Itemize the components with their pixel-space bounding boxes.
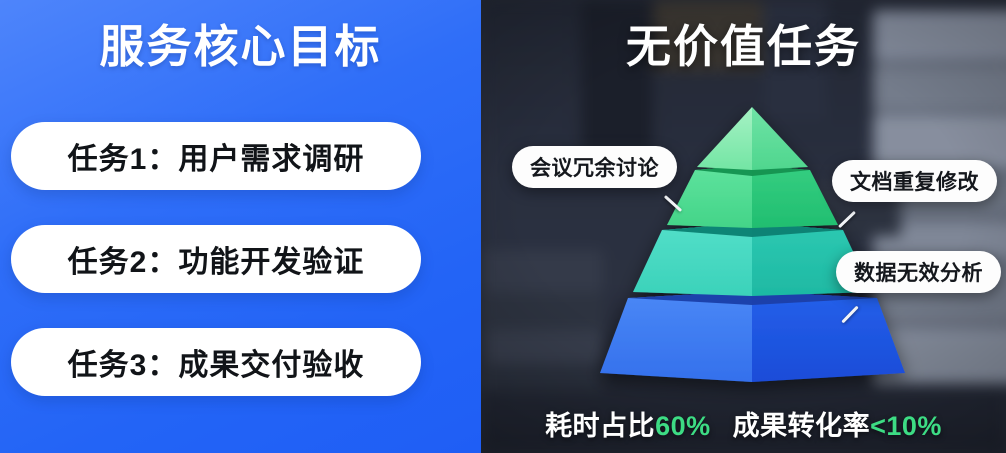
left-panel-title: 服务核心目标 [0, 18, 481, 76]
pyramid-chart [481, 0, 1006, 453]
callout-ineffective-data-analysis[interactable]: 数据无效分析 [836, 251, 1001, 293]
callout-1-label: 会议冗余讨论 [530, 152, 659, 182]
pyramid-tier-middle [633, 223, 872, 296]
task-pill-1-label: 任务1：用户需求调研 [68, 134, 365, 178]
task-pill-2-label: 任务2：功能开发验证 [68, 237, 365, 281]
left-panel-service-goals: 服务核心目标 任务1：用户需求调研 任务2：功能开发验证 任务3：成果交付验收 [0, 0, 481, 453]
task-pill-2[interactable]: 任务2：功能开发验证 [11, 225, 421, 293]
right-panel-worthless-tasks: 无价值任务 [481, 0, 1006, 453]
caption-metric1-label: 耗时占比 [545, 411, 655, 441]
callout-document-repeated-edits[interactable]: 文档重复修改 [832, 160, 997, 202]
pyramid-tier-base [600, 291, 905, 382]
caption-metric1-value: 60% [655, 411, 711, 441]
task-pill-3[interactable]: 任务3：成果交付验收 [11, 328, 421, 396]
callout-2-label: 文档重复修改 [850, 166, 979, 196]
caption-metric2-label: 成果转化率 [733, 411, 871, 441]
infographic-canvas: 服务核心目标 任务1：用户需求调研 任务2：功能开发验证 任务3：成果交付验收 [0, 0, 1006, 453]
pyramid-tier-upper [667, 165, 838, 228]
pyramid-caption: 耗时占比60%成果转化率<10% [481, 404, 1006, 443]
task-pill-1[interactable]: 任务1：用户需求调研 [11, 122, 421, 190]
pyramid-tier-apex [697, 107, 808, 170]
task-pill-3-label: 任务3：成果交付验收 [68, 340, 365, 384]
callout-meeting-redundant-discussion[interactable]: 会议冗余讨论 [512, 146, 677, 188]
callout-3-label: 数据无效分析 [854, 257, 983, 287]
caption-metric2-value: <10% [870, 411, 942, 441]
